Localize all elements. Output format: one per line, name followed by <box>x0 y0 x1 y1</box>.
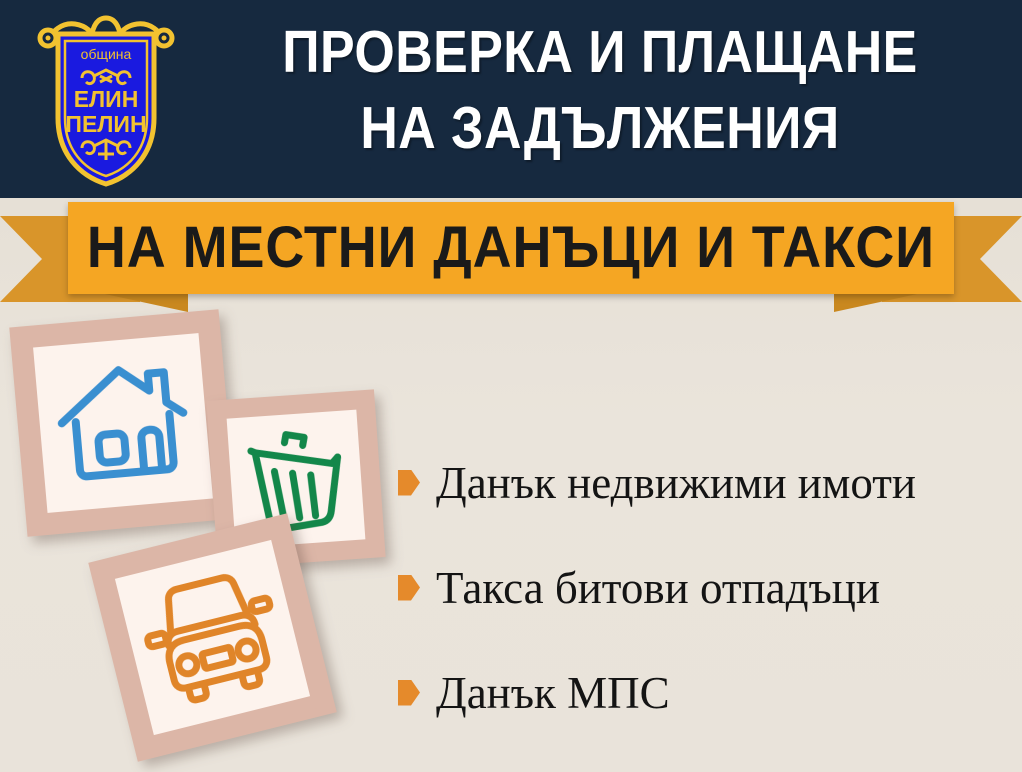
crest-name-line1: ЕЛИН <box>74 86 139 112</box>
header-bar: община ЕЛИН ПЕЛИН ПРОВЕРКА И ПЛАЩАНЕ НА … <box>0 0 1022 198</box>
page-title-line-1: ПРОВЕРКА И ПЛАЩАНЕ <box>282 19 917 85</box>
page-title-line-2: НА ЗАДЪЛЖЕНИЯ <box>239 90 961 166</box>
list-item-label: Данък МПС <box>436 668 670 718</box>
municipality-crest-logo: община ЕЛИН ПЕЛИН <box>30 8 182 192</box>
ribbon-banner: НА МЕСТНИ ДАНЪЦИ И ТАКСИ <box>68 202 954 294</box>
list-item[interactable]: Такса битови отпадъци <box>398 535 1008 640</box>
ribbon-label: НА МЕСТНИ ДАНЪЦИ И ТАКСИ <box>87 218 935 278</box>
arrow-bullet-icon <box>398 470 420 496</box>
list-item[interactable]: Данък МПС <box>398 640 1008 745</box>
subtitle-ribbon: НА МЕСТНИ ДАНЪЦИ И ТАКСИ <box>0 198 1022 318</box>
tax-type-list: Данък недвижими имоти Такса битови отпад… <box>398 430 1008 745</box>
list-item[interactable]: Данък недвижими имоти <box>398 430 1008 535</box>
list-item-label: Данък недвижими имоти <box>436 458 916 508</box>
arrow-bullet-icon <box>398 680 420 706</box>
arrow-bullet-icon <box>398 575 420 601</box>
page-title: ПРОВЕРКА И ПЛАЩАНЕ НА ЗАДЪЛЖЕНИЯ <box>239 14 961 166</box>
list-item-label: Такса битови отпадъци <box>436 563 880 613</box>
stamp-card-property <box>9 309 237 537</box>
poster-root: община ЕЛИН ПЕЛИН ПРОВЕРКА И ПЛАЩАНЕ НА … <box>0 0 1022 772</box>
crest-name-line2: ПЕЛИН <box>65 111 146 137</box>
stamp-paper-property <box>33 333 213 513</box>
house-icon <box>33 333 213 513</box>
crest-municipality-word: община <box>81 46 132 62</box>
